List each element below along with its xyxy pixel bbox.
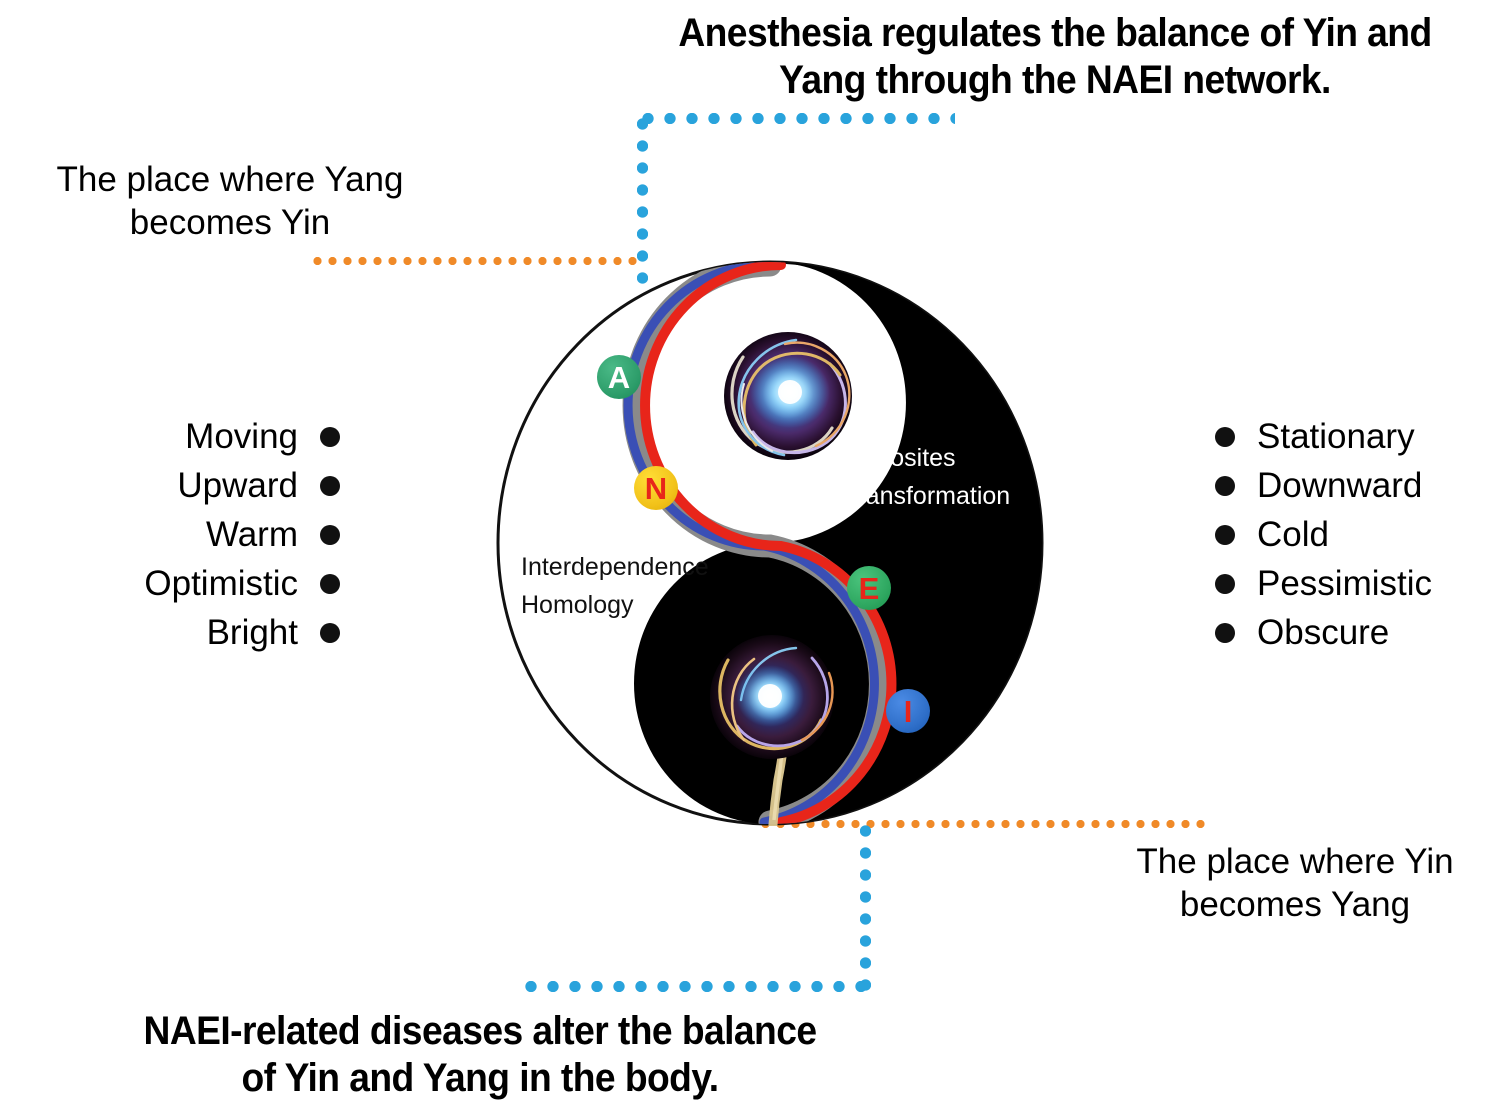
attribute-list-yin: Stationary Downward Cold Pessimistic Obs…	[1215, 412, 1495, 657]
callout-yang-becomes-yin: The place where Yang becomes Yin	[10, 158, 450, 245]
attribute-label: Warm	[206, 517, 298, 552]
attribute-label: Obscure	[1257, 615, 1389, 650]
callout-yang-becomes-yin-line-1: The place where Yang	[10, 158, 450, 201]
diagram-canvas: Anesthesia regulates the balance of Yin …	[0, 0, 1500, 1118]
headline-bottom-line-2: of Yin and Yang in the body.	[89, 1055, 870, 1102]
bullet-dot-icon	[1215, 525, 1235, 545]
label-opposites-line-1: Opposites	[843, 440, 1010, 478]
label-opposites-line-2: Transformation	[843, 478, 1010, 516]
node-badge-e-letter: E	[859, 573, 880, 604]
attribute-label: Bright	[207, 615, 298, 650]
bullet-dot-icon	[1215, 574, 1235, 594]
label-opposites-transformation: Opposites Transformation	[843, 440, 1010, 515]
energy-core-bottom	[758, 684, 782, 708]
headline-top: Anesthesia regulates the balance of Yin …	[650, 10, 1459, 104]
yin-yang-symbol	[496, 260, 1044, 826]
energy-sphere-bottom	[710, 635, 834, 759]
yin-yang-svg	[496, 260, 1044, 826]
list-item: Stationary	[1215, 412, 1495, 461]
headline-bottom: NAEI-related diseases alter the balance …	[89, 1008, 870, 1102]
callout-yin-becomes-yang: The place where Yin becomes Yang	[1095, 840, 1495, 927]
label-interdependence-line-1: Interdependence	[521, 549, 709, 587]
node-badge-a[interactable]: A	[597, 355, 641, 399]
attribute-label: Cold	[1257, 517, 1329, 552]
list-item: Downward	[1215, 461, 1495, 510]
callout-yin-becomes-yang-line-1: The place where Yin	[1095, 840, 1495, 883]
bullet-dot-icon	[1215, 476, 1235, 496]
callout-yin-becomes-yang-line-2: becomes Yang	[1095, 883, 1495, 926]
node-badge-n[interactable]: N	[634, 466, 678, 510]
list-item: Optimistic	[70, 559, 340, 608]
connector-blue-bottom-vertical	[860, 820, 871, 992]
node-badge-n-letter: N	[645, 473, 667, 504]
list-item: Cold	[1215, 510, 1495, 559]
attribute-label: Pessimistic	[1257, 566, 1432, 601]
bullet-dot-icon	[320, 525, 340, 545]
energy-core-top	[778, 380, 802, 404]
node-badge-a-letter: A	[608, 362, 630, 393]
list-item: Warm	[70, 510, 340, 559]
node-badge-i[interactable]: I	[886, 689, 930, 733]
headline-top-line-1: Anesthesia regulates the balance of Yin …	[650, 10, 1459, 57]
attribute-label: Downward	[1257, 468, 1422, 503]
list-item: Upward	[70, 461, 340, 510]
list-item: Moving	[70, 412, 340, 461]
connector-blue-top-horizontal	[637, 113, 955, 124]
bullet-dot-icon	[320, 623, 340, 643]
connector-blue-bottom-horizontal	[520, 981, 871, 992]
headline-top-line-2: Yang through the NAEI network.	[650, 57, 1459, 104]
attribute-label: Moving	[185, 419, 298, 454]
label-interdependence-homology: Interdependence Homology	[521, 549, 709, 624]
bullet-dot-icon	[320, 574, 340, 594]
node-badge-e[interactable]: E	[847, 566, 891, 610]
list-item: Pessimistic	[1215, 559, 1495, 608]
attribute-label: Upward	[177, 468, 298, 503]
bullet-dot-icon	[320, 476, 340, 496]
label-interdependence-line-2: Homology	[521, 587, 709, 625]
bullet-dot-icon	[1215, 427, 1235, 447]
headline-bottom-line-1: NAEI-related diseases alter the balance	[89, 1008, 870, 1055]
attribute-list-yang: Moving Upward Warm Optimistic Bright	[70, 412, 340, 657]
bullet-dot-icon	[1215, 623, 1235, 643]
list-item: Obscure	[1215, 608, 1495, 657]
attribute-label: Stationary	[1257, 419, 1415, 454]
bullet-dot-icon	[320, 427, 340, 447]
node-badge-i-letter: I	[904, 696, 913, 727]
list-item: Bright	[70, 608, 340, 657]
callout-yang-becomes-yin-line-2: becomes Yin	[10, 201, 450, 244]
attribute-label: Optimistic	[144, 566, 298, 601]
